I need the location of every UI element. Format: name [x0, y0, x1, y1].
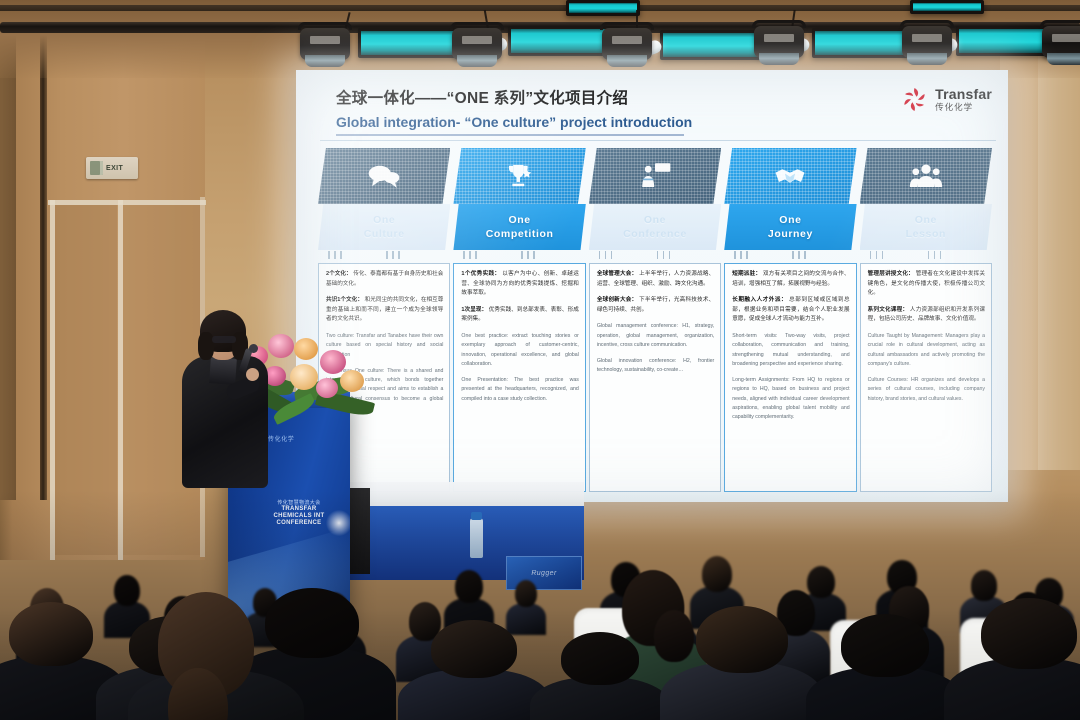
column-paragraph-cn: 1个优秀实践： 以客户为中心、创新、卓越运营、全球协同为方向的优秀实践提炼、挖掘… — [461, 270, 578, 299]
column-label: OneJourney — [724, 204, 856, 250]
group-people-icon — [909, 161, 943, 191]
audience-member — [944, 598, 1080, 720]
presenter-podium-icon — [638, 161, 672, 191]
column-label: OneCompetition — [453, 204, 585, 250]
audience-member — [806, 614, 964, 720]
column-paragraph-en: Global innovation conference: H2, fronti… — [597, 357, 714, 376]
exit-sign-label: EXIT — [106, 165, 123, 172]
column-label: OneConference — [589, 204, 721, 250]
column-label-line1: One — [915, 214, 937, 226]
audience-head — [981, 598, 1076, 669]
column-comb-connector — [589, 251, 721, 261]
column-comb-connector — [724, 251, 856, 261]
audience-head — [9, 602, 93, 666]
slide-header: 全球一体化——“ONE 系列”文化项目介绍 Global integration… — [336, 86, 980, 130]
column-cap — [860, 148, 992, 204]
audience-head — [455, 570, 483, 603]
slide-title-english: Global integration- “One culture” projec… — [336, 114, 980, 130]
column-label-line2: Competition — [486, 228, 554, 240]
column-cap — [318, 148, 450, 204]
brand-name-chinese: 传化化学 — [935, 103, 992, 112]
exit-running-figure-icon — [90, 161, 103, 175]
column-label-line1: One — [779, 214, 801, 226]
column-paragraph-en: Short-term visits: Two-way visits, proje… — [732, 332, 849, 369]
column-paragraph-cn: 全球管理大会： 上半年举行，人力资源战略、运营、全球管理、组织、激励、跨文化沟通… — [597, 270, 714, 289]
audience — [0, 420, 1080, 720]
column-comb-connector — [453, 251, 585, 261]
column-paragraph-cn: 短期派驻： 双方有关项目之间的交流与合作、培训，增强相互了解，拓展视野与经验。 — [732, 270, 849, 289]
column-paragraph-en: One best practice: extract touching stor… — [461, 332, 578, 369]
audience-member — [660, 606, 824, 720]
column-label-line1: One — [373, 214, 395, 226]
column-label: OneCulture — [318, 204, 450, 250]
audience-member-ponytail — [128, 592, 304, 720]
audience-head — [515, 580, 537, 607]
column-cap — [589, 148, 721, 204]
speaker-hand — [246, 368, 259, 381]
column-label-line1: One — [508, 214, 530, 226]
microphone-head — [249, 344, 258, 353]
audience-head — [696, 606, 788, 673]
audience-member — [530, 632, 670, 720]
speaker-hair-side-left — [198, 332, 214, 360]
audience-member — [398, 620, 550, 720]
slide-title-chinese: 全球一体化——“ONE 系列”文化项目介绍 — [336, 86, 980, 108]
brand-name: Transfar — [935, 87, 992, 102]
speaker-glasses — [212, 336, 236, 343]
column-paragraph-cn: 系列文化课程： 人力资源部组织和开发系列课程，包括公司历史、品牌故事、文化价值观… — [868, 306, 985, 325]
audience-head — [431, 620, 516, 678]
column-paragraph-cn: 全球创新大会： 下半年举行，光高科技技术、绿色可持续、共创。 — [597, 296, 714, 315]
column-paragraph-cn: 长期融入人才外派： 总部到区域或区域到总部，根据业务和项目需要，结合个人职业发展… — [732, 296, 849, 325]
conference-photo: EXIT 全球一体化——“ONE 系列”文化项目介绍 Global inte — [0, 0, 1080, 720]
column-paragraph-en: Long-term Assignments: From HQ to region… — [732, 376, 849, 422]
column-paragraph-en: Culture Taught by Management: Managers p… — [868, 332, 985, 369]
column-comb-connector — [318, 251, 450, 261]
column-label-line1: One — [644, 214, 666, 226]
column-label-line2: Culture — [364, 228, 405, 240]
column-label: OneLesson — [860, 204, 992, 250]
handshake-icon — [773, 161, 807, 191]
audience-head — [841, 614, 929, 677]
column-label-line2: Journey — [768, 228, 813, 240]
column-label-line2: Conference — [623, 228, 687, 240]
column-paragraph-en: One Presentation: The best practice was … — [461, 376, 578, 404]
stage-spotlight — [1036, 20, 1080, 72]
transfar-pinwheel-logo-icon — [901, 86, 928, 113]
column-cap — [453, 148, 585, 204]
column-cap — [724, 148, 856, 204]
column-paragraph-en: Global management conference: H1, strate… — [597, 322, 714, 350]
column-label-line2: Lesson — [906, 228, 946, 240]
header-divider — [320, 140, 996, 141]
led-panel — [910, 0, 984, 14]
column-paragraph-cn: 2个文化： 传化、泰嘉都有基于自身历史和社会基础的文化。 — [326, 270, 443, 289]
column-paragraph-cn: 管理层讲授文化： 管理者在文化建设中发挥关键角色，是文化的传播大使，积极传播公司… — [868, 270, 985, 299]
brand-lockup: Transfar 传化化学 — [901, 86, 992, 113]
trophy-icon — [503, 161, 537, 191]
column-paragraph-en: Culture Courses: HR organizes and develo… — [868, 376, 985, 404]
door-header-rail — [48, 200, 206, 205]
led-panel — [566, 0, 640, 16]
column-paragraph-cn: 1次呈现： 优秀实践、到总部发表、表彰、形成案例集。 — [461, 306, 578, 325]
speech-bubble-icon — [367, 161, 401, 191]
column-comb-connector — [860, 251, 992, 261]
speaker-collar — [209, 357, 237, 385]
exit-sign: EXIT — [86, 157, 138, 179]
audience-head — [561, 632, 639, 685]
header-underline — [336, 134, 684, 136]
